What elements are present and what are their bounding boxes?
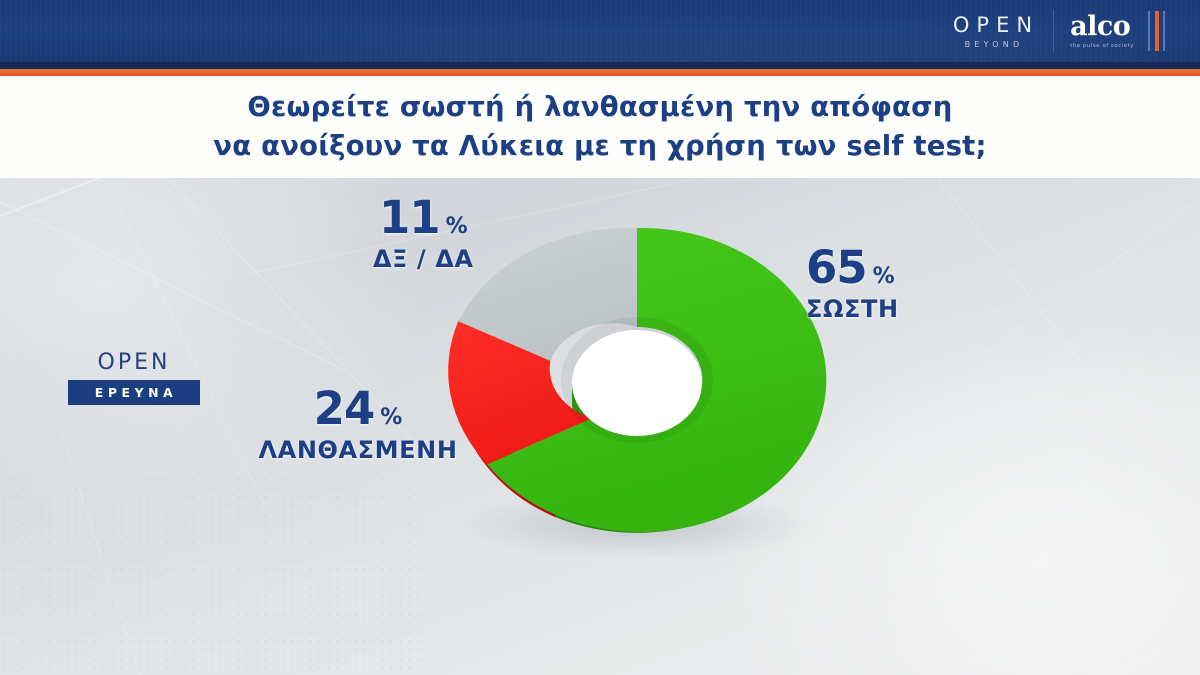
- watermark-erevna-tag: ΕΡΕΥΝΑ: [68, 380, 200, 405]
- page-title: Θεωρείτε σωστή ή λανθασμένη την απόφαση …: [213, 88, 986, 166]
- callout-wrong-value: 24: [314, 386, 375, 431]
- alco-logo: alco the pulse of society: [1070, 13, 1134, 49]
- orange-accent-bar: [0, 69, 1200, 76]
- callout-correct: 65 % ΣΩΣΤΗ: [806, 245, 899, 321]
- title-line-1: Θεωρείτε σωστή ή λανθασμένη την απόφαση: [247, 91, 952, 123]
- donut-chart-svg: [442, 190, 832, 570]
- header-logos: O P E N BEYOND alco the pulse of society: [953, 0, 1170, 62]
- callout-wrong-label: ΛΑΝΘΑΣΜΕΝΗ: [252, 438, 464, 462]
- callout-dk-value: 11: [379, 195, 440, 240]
- open-beyond-tagline: BEYOND: [965, 40, 1024, 49]
- callout-wrong-percent-symbol: %: [380, 407, 402, 429]
- callout-dk-label: ΔΞ / ΔΑ: [373, 247, 474, 271]
- open-letter-p: P: [976, 13, 992, 37]
- donut-hole: [572, 330, 702, 436]
- title-line-2: να ανοίξουν τα Λύκεια με τη χρήση των se…: [213, 127, 986, 166]
- open-beyond-logo: O P E N BEYOND: [953, 13, 1053, 49]
- callout-dk-da: 11 % ΔΞ / ΔΑ: [373, 195, 474, 271]
- callout-correct-label: ΣΩΣΤΗ: [806, 297, 899, 321]
- top-header-bar: O P E N BEYOND alco the pulse of society: [0, 0, 1200, 68]
- chart-stage: OPEN ΕΡΕΥΝΑ: [0, 178, 1200, 675]
- alco-wordmark: alco: [1070, 13, 1130, 40]
- header-dark-rule: [0, 62, 1200, 69]
- alco-tagline: the pulse of society: [1070, 43, 1134, 49]
- callout-wrong: 24 % ΛΑΝΘΑΣΜΕΝΗ: [252, 386, 464, 462]
- logo-divider: [1053, 10, 1054, 52]
- open-wordmark: O P E N: [953, 13, 1035, 37]
- alco-bars-icon: [1144, 9, 1170, 53]
- title-band: Θεωρείτε σωστή ή λανθασμένη την απόφαση …: [0, 76, 1200, 178]
- callout-dk-percent-symbol: %: [446, 216, 468, 238]
- open-erevna-watermark: OPEN ΕΡΕΥΝΑ: [68, 350, 200, 405]
- callout-correct-percent-symbol: %: [873, 266, 895, 288]
- watermark-open-wordmark: OPEN: [68, 350, 200, 375]
- open-letter-n: N: [1016, 13, 1035, 37]
- open-letter-o: O: [953, 13, 973, 37]
- open-letter-e: E: [996, 13, 1012, 37]
- callout-correct-value: 65: [806, 245, 867, 290]
- donut-chart: [442, 190, 832, 570]
- stage-dot-texture: [0, 475, 420, 675]
